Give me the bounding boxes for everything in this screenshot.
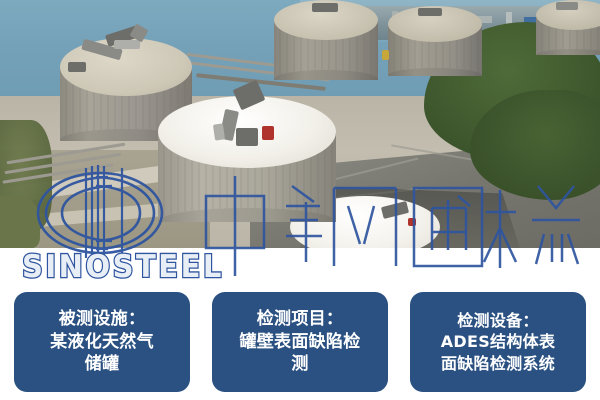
lng-tank-farm-photo [0, 0, 600, 248]
caption-box-inspection-item[interactable]: 检测项目： 罐壁表面缺陷检 测 [212, 292, 388, 392]
caption-box-tested-facility[interactable]: 被测设施： 某液化天然气 储罐 [14, 292, 190, 392]
poster-page: SINOSTEEL 被测设施： 某液化天然气 储罐 检测项目： 罐壁表面缺陷检 … [0, 0, 600, 400]
caption-text-inspection-item: 检测项目： 罐壁表面缺陷检 测 [239, 308, 360, 375]
tank-1-equipment-d [68, 62, 86, 72]
tank-1-equipment-c [114, 40, 140, 49]
storage-tank-2 [158, 96, 336, 226]
storage-tank-4 [388, 6, 482, 78]
tank-4-equipment [418, 8, 442, 16]
tank-4-marker [382, 50, 389, 60]
sinosteel-wordmark: SINOSTEEL [22, 248, 224, 285]
caption-text-tested-facility: 被测设施： 某液化天然气 储罐 [50, 308, 154, 375]
tank-6-marker [408, 218, 416, 226]
tank-3-equipment [312, 3, 338, 12]
storage-tank-3 [274, 0, 378, 82]
caption-box-inspection-equipment[interactable]: 检测设备： ADES结构体表 面缺陷检测系统 [410, 292, 586, 392]
storage-tank-5 [536, 0, 600, 56]
caption-text-inspection-equipment: 检测设备： ADES结构体表 面缺陷检测系统 [441, 310, 556, 373]
tank-2-marker [262, 126, 274, 140]
tank-2-equipment-d [213, 123, 225, 140]
tank-2-equipment-c [236, 128, 258, 146]
tank-5-equipment [556, 2, 578, 10]
caption-box-row: 被测设施： 某液化天然气 储罐 检测项目： 罐壁表面缺陷检 测 检测设备： AD… [0, 292, 600, 392]
vegetation-left-lower [0, 196, 40, 248]
